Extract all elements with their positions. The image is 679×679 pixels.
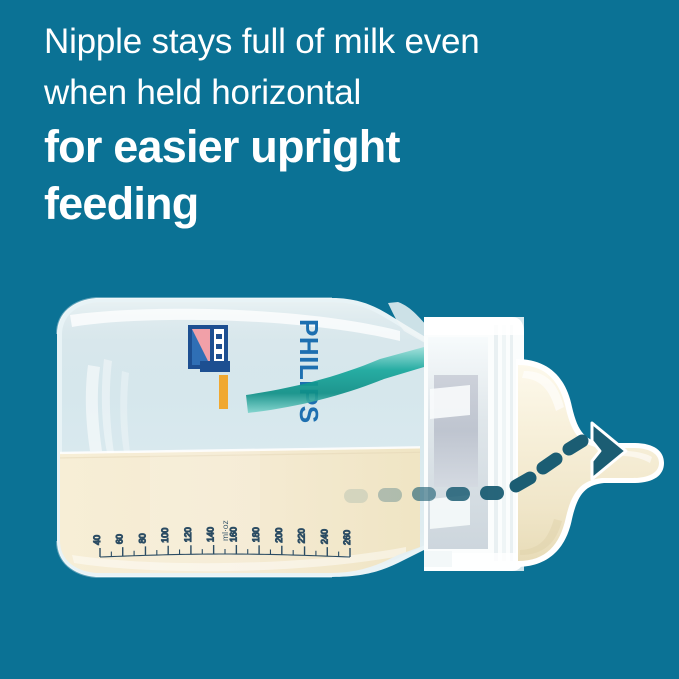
philips-accent-blue-bar bbox=[200, 361, 230, 372]
promo-image-canvas: Nipple stays full of milk even when held… bbox=[0, 0, 679, 679]
collar-step bbox=[424, 551, 452, 567]
flow-dash-3 bbox=[412, 487, 436, 501]
headline-block: Nipple stays full of milk even when held… bbox=[44, 16, 644, 232]
milk-sheen bbox=[150, 451, 260, 581]
collar-top-lip bbox=[424, 317, 524, 335]
collar-ribs bbox=[494, 325, 513, 561]
scale-value-label: 120 bbox=[183, 527, 193, 542]
philips-logo-wave-2 bbox=[216, 344, 222, 349]
flow-dash-4 bbox=[446, 487, 470, 501]
flow-dash-1 bbox=[344, 489, 368, 503]
product-illustration: PHILIPS bbox=[0, 255, 679, 679]
headline-line-2: when held horizontal bbox=[44, 67, 644, 118]
bottle-body bbox=[55, 298, 440, 585]
flow-dash-2 bbox=[378, 488, 402, 502]
headline-line-3: for easier upright bbox=[44, 118, 644, 175]
scale-value-label: 240 bbox=[319, 529, 329, 544]
philips-logo-wave-3 bbox=[216, 354, 222, 359]
scale-value-label: 220 bbox=[297, 528, 307, 543]
scale-value-label: 200 bbox=[274, 528, 284, 543]
silicone-nipple bbox=[516, 359, 664, 567]
bottle-collar-ring bbox=[424, 317, 524, 571]
scale-value-label: 60 bbox=[115, 534, 125, 544]
scale-value-label: 40 bbox=[92, 535, 102, 545]
bottle-svg: PHILIPS bbox=[0, 255, 679, 679]
flow-dash-5 bbox=[480, 486, 504, 500]
headline-line-4: feeding bbox=[44, 175, 644, 232]
scale-value-label: 160 bbox=[228, 527, 238, 542]
valve-funnel-top bbox=[430, 385, 470, 419]
philips-accent-orange-bar bbox=[219, 375, 228, 409]
scale-value-label: 180 bbox=[251, 527, 261, 542]
headline-line-1: Nipple stays full of milk even bbox=[44, 16, 644, 67]
philips-logo-wave-1 bbox=[216, 334, 222, 339]
scale-value-label: 100 bbox=[160, 528, 170, 543]
philips-wordmark: PHILIPS bbox=[294, 319, 324, 424]
scale-value-label: 80 bbox=[137, 533, 147, 543]
scale-value-label: 140 bbox=[206, 527, 216, 542]
scale-value-label: 260 bbox=[342, 530, 352, 545]
